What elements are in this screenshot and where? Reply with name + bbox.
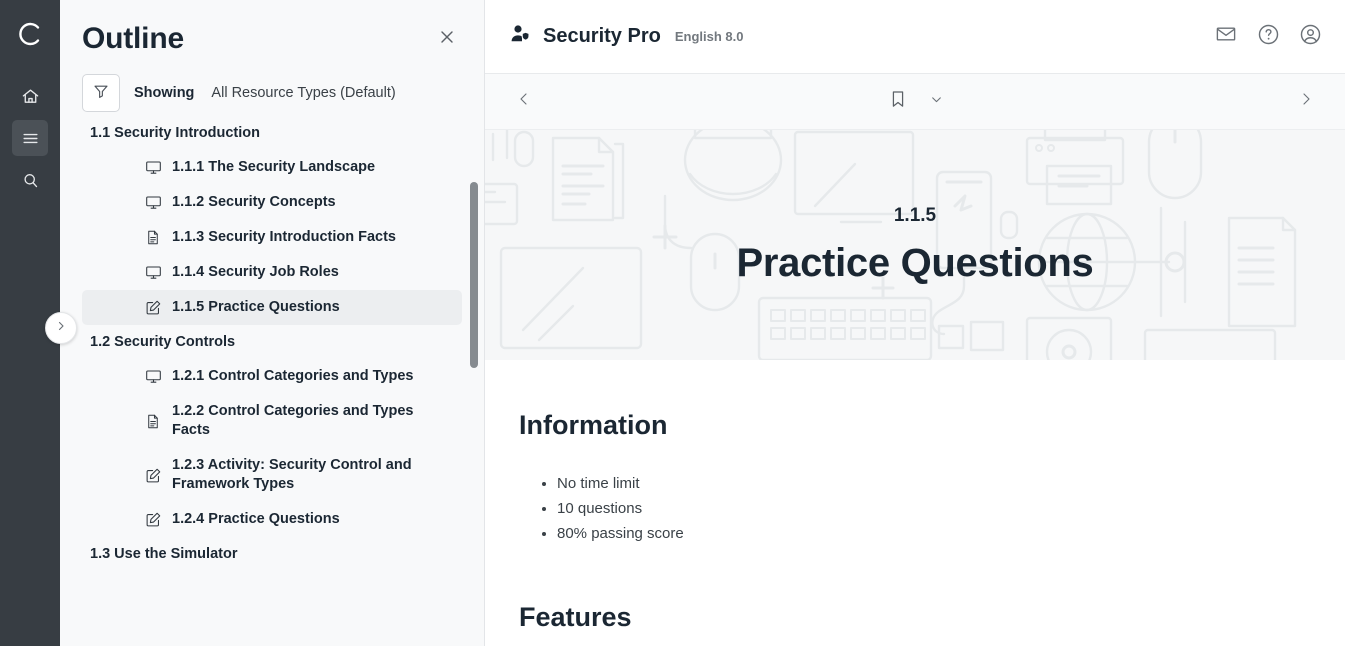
filter-row: Showing All Resource Types (Default) (60, 66, 484, 126)
circular-c-logo-icon[interactable] (10, 14, 50, 54)
information-bullet: No time limit (557, 471, 1345, 496)
header-icons (1213, 24, 1323, 50)
course-version: English 8.0 (675, 29, 744, 44)
search-icon (21, 171, 40, 190)
outline-lesson-item[interactable]: 1.2.4 Practice Questions (82, 502, 462, 537)
account-circle-icon (1299, 23, 1322, 51)
user-shield-icon (509, 22, 533, 51)
outline-lesson-label: 1.1.3 Security Introduction Facts (144, 228, 396, 247)
monitor-icon (144, 159, 162, 177)
filter-funnel-icon (92, 82, 110, 105)
outline-topic[interactable]: 1.2 Security Controls (82, 325, 462, 359)
panel-collapse-toggle[interactable] (45, 312, 77, 344)
course-brand: Security Pro English 8.0 (509, 22, 743, 51)
pencil-square-icon (144, 299, 162, 317)
outline-lesson-item[interactable]: 1.1.3 Security Introduction Facts (82, 220, 462, 255)
outline-lesson-item[interactable]: 1.2.3 Activity: Security Control and Fra… (82, 448, 462, 502)
outline-lesson-item[interactable]: 1.1.4 Security Job Roles (82, 255, 462, 290)
course-name: Security Pro (543, 25, 661, 48)
app-header: Security Pro English 8.0 (485, 0, 1345, 74)
outline-lesson-label: 1.1.1 The Security Landscape (144, 158, 375, 177)
outline-lesson-item[interactable]: 1.1.1 The Security Landscape (82, 150, 462, 185)
bookmark-dropdown-button[interactable] (930, 93, 943, 111)
bookmark-icon (888, 88, 908, 115)
outline-lesson-item[interactable]: 1.1.5 Practice Questions (82, 290, 462, 325)
outline-lesson-label: 1.1.2 Security Concepts (144, 193, 336, 212)
filter-button[interactable] (82, 74, 120, 112)
chevron-down-icon (930, 93, 943, 111)
document-icon (144, 412, 162, 430)
lesson-hero: 1.1.5 Practice Questions (485, 130, 1345, 360)
pencil-square-icon (144, 466, 162, 484)
outline-scrollbar-thumb[interactable] (470, 182, 478, 368)
next-lesson-button[interactable] (1291, 87, 1321, 117)
account-button[interactable] (1297, 24, 1323, 50)
main-pane: Security Pro English 8.0 (485, 0, 1345, 646)
bookmark-controls (485, 88, 1345, 115)
app-root: Outline Showing All Resource Types (Defa… (0, 0, 1345, 646)
outline-lesson-item[interactable]: 1.1.2 Security Concepts (82, 185, 462, 220)
chevron-left-icon (516, 91, 532, 112)
information-bullet-list: No time limit10 questions80% passing sco… (485, 471, 1345, 546)
outline-lesson-label: 1.1.5 Practice Questions (144, 298, 340, 317)
mail-button[interactable] (1213, 24, 1239, 50)
close-icon (437, 27, 457, 52)
lesson-number: 1.1.5 (894, 205, 936, 227)
document-icon (144, 229, 162, 247)
outline-lesson-label: 1.2.1 Control Categories and Types (144, 367, 413, 386)
outline-scrollbar-track[interactable] (470, 126, 478, 646)
outline-panel: Outline Showing All Resource Types (Defa… (60, 0, 485, 646)
section-heading-information: Information (485, 410, 1345, 441)
outline-topic[interactable]: 1.3 Use the Simulator (82, 537, 462, 571)
lesson-content: 1.1.5 Practice Questions Information No … (485, 130, 1345, 646)
home-icon (21, 87, 40, 106)
outline-list: Chapter 1.0 Introduction1.1 Security Int… (60, 126, 484, 646)
outline-lesson-label: 1.2.3 Activity: Security Control and Fra… (144, 456, 414, 494)
sidebar-item-home[interactable] (12, 78, 48, 114)
monitor-icon (144, 368, 162, 386)
outline-lesson-item[interactable]: 1.2.1 Control Categories and Types (82, 359, 462, 394)
outline-header: Outline (60, 0, 484, 66)
help-button[interactable] (1255, 24, 1281, 50)
page-title: Outline (82, 22, 184, 56)
close-button[interactable] (432, 24, 462, 54)
outline-lesson-label: 1.2.4 Practice Questions (144, 510, 340, 529)
information-bullet: 80% passing score (557, 521, 1345, 546)
showing-value[interactable]: All Resource Types (Default) (211, 85, 395, 101)
mail-icon (1215, 23, 1237, 50)
monitor-icon (144, 194, 162, 212)
outline-topic[interactable]: 1.1 Security Introduction (82, 126, 462, 150)
chevron-right-icon (1298, 91, 1314, 112)
lesson-body: Information No time limit10 questions80%… (485, 360, 1345, 633)
outline-lesson-label: 1.1.4 Security Job Roles (144, 263, 339, 282)
showing-label: Showing (134, 85, 194, 101)
sidebar-item-outline[interactable] (12, 120, 48, 156)
bookmark-button[interactable] (888, 88, 908, 115)
outline-lesson-item[interactable]: 1.2.2 Control Categories and Types Facts (82, 394, 462, 448)
lesson-title: Practice Questions (737, 241, 1094, 286)
section-heading-features: Features (485, 602, 1345, 633)
information-bullet: 10 questions (557, 496, 1345, 521)
chevron-right-icon (55, 319, 67, 337)
hamburger-menu-icon (21, 129, 40, 148)
outline-lesson-label: 1.2.2 Control Categories and Types Facts (144, 402, 414, 440)
help-circle-icon (1257, 23, 1280, 51)
sidebar-item-search[interactable] (12, 162, 48, 198)
pencil-square-icon (144, 511, 162, 529)
previous-lesson-button[interactable] (509, 87, 539, 117)
lesson-navbar (485, 74, 1345, 130)
monitor-icon (144, 264, 162, 282)
